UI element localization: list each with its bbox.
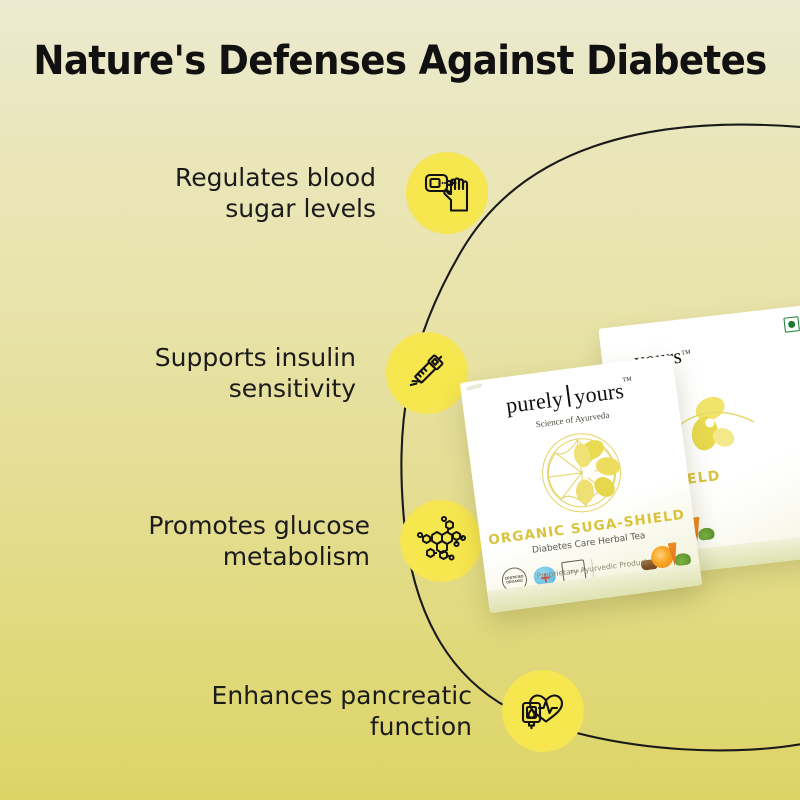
tear-notch — [466, 383, 482, 391]
trademark-symbol: TM — [622, 376, 632, 383]
benefit-label: Enhances pancreatic function — [212, 680, 472, 742]
vegetarian-mark-icon — [783, 316, 800, 333]
benefit-icon-circle — [502, 670, 584, 752]
benefit-supports-insulin-sensitivity[interactable]: Supports insulin sensitivity — [155, 332, 468, 414]
benefit-label: Regulates blood sugar levels — [175, 162, 376, 224]
benefit-label: Promotes glucose metabolism — [148, 510, 370, 572]
page-title: Nature's Defenses Against Diabetes — [28, 38, 772, 84]
benefit-icon-circle — [386, 332, 468, 414]
benefit-regulates-blood-sugar[interactable]: Regulates blood sugar levels — [175, 152, 488, 234]
benefit-icon-circle — [400, 500, 482, 582]
benefit-promotes-glucose-metabolism[interactable]: Promotes glucose metabolism — [148, 500, 482, 582]
benefit-enhances-pancreatic-function[interactable]: Enhances pancreatic function — [212, 670, 584, 752]
heart-glucose-monitor-icon — [517, 685, 569, 737]
syringe-icon — [402, 348, 452, 398]
infographic-canvas: Nature's Defenses Against Diabetes Regul… — [0, 0, 800, 800]
brand-divider — [566, 385, 570, 407]
herb-leaf-icon — [698, 527, 715, 541]
glucometer-hand-icon — [421, 167, 473, 219]
trademark-symbol: TM — [681, 350, 691, 357]
brand-name-second: yours — [573, 378, 626, 410]
molecule-hexagon-icon — [415, 515, 467, 567]
citrus-flower-graphic — [517, 422, 645, 523]
benefit-label: Supports insulin sensitivity — [155, 342, 356, 404]
benefit-icon-circle — [406, 152, 488, 234]
brand-name-first: purely — [504, 386, 564, 419]
product-sachet-front: purely yours TM Science of Ayurveda ORGA… — [460, 355, 702, 613]
